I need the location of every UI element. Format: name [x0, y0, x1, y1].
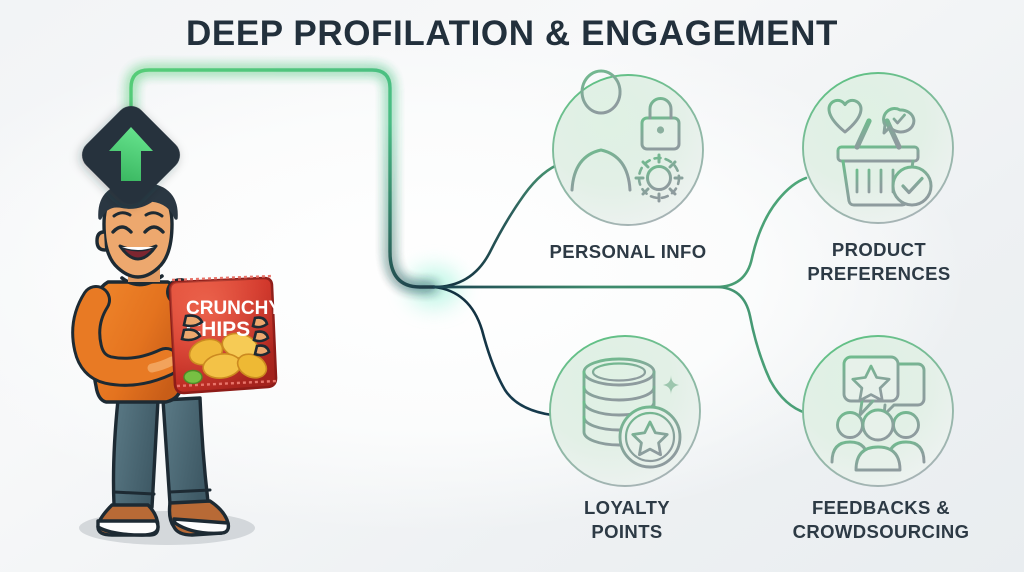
node-label-personal-info: PERSONAL INFO: [508, 240, 748, 264]
infographic-canvas: DEEP PROFILATION & ENGAGEMENT: [0, 0, 1024, 572]
node-label-loyalty-points: LOYALTY POINTS: [524, 496, 730, 543]
node-label-product-preferences: PRODUCT PREFERENCES: [760, 238, 998, 285]
source-badge[interactable]: [0, 0, 1024, 572]
node-label-feedbacks-crowdsourcing: FEEDBACKS & CROWDSOURCING: [758, 496, 1004, 543]
